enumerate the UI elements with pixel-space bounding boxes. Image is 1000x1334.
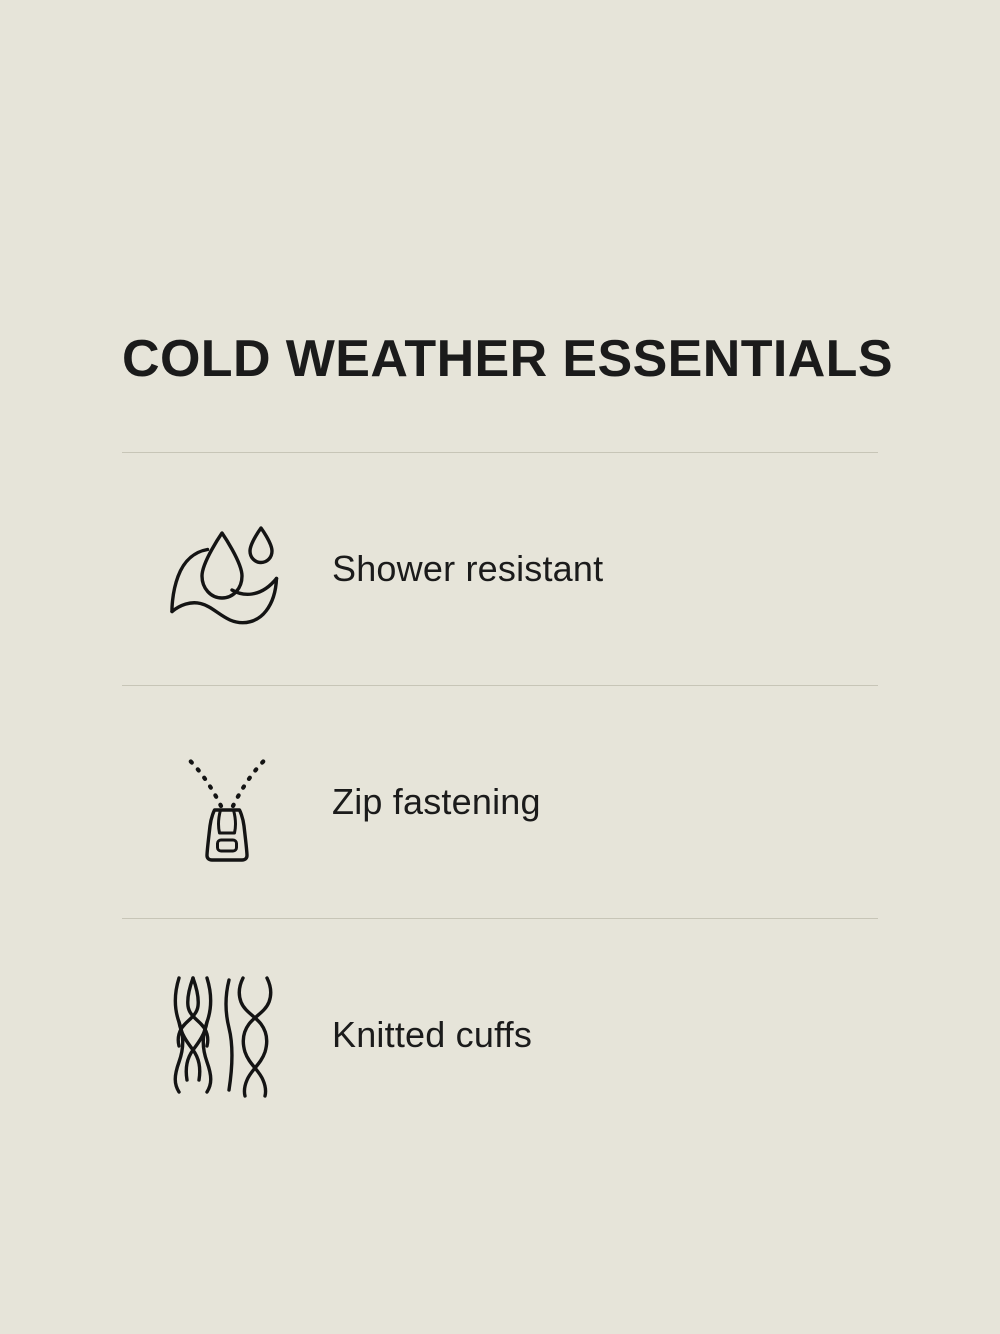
list-item: Shower resistant <box>122 453 878 685</box>
list-item: Zip fastening <box>122 686 878 918</box>
feature-label: Shower resistant <box>332 547 603 591</box>
feature-icon-cell <box>122 510 332 628</box>
feature-list: Shower resistant <box>122 453 878 1151</box>
feature-icon-cell <box>122 972 332 1098</box>
list-item: Knitted cuffs <box>122 919 878 1151</box>
feature-label: Knitted cuffs <box>332 1013 532 1057</box>
water-droplet-fabric-icon <box>162 510 292 628</box>
zipper-icon <box>174 738 280 866</box>
product-features-card: COLD WEATHER ESSENTIALS <box>0 0 1000 1334</box>
page-title: COLD WEATHER ESSENTIALS <box>122 330 878 388</box>
feature-label: Zip fastening <box>332 780 541 824</box>
features-panel: COLD WEATHER ESSENTIALS <box>122 330 878 1151</box>
feature-icon-cell <box>122 738 332 866</box>
knit-braid-icon <box>171 972 283 1098</box>
